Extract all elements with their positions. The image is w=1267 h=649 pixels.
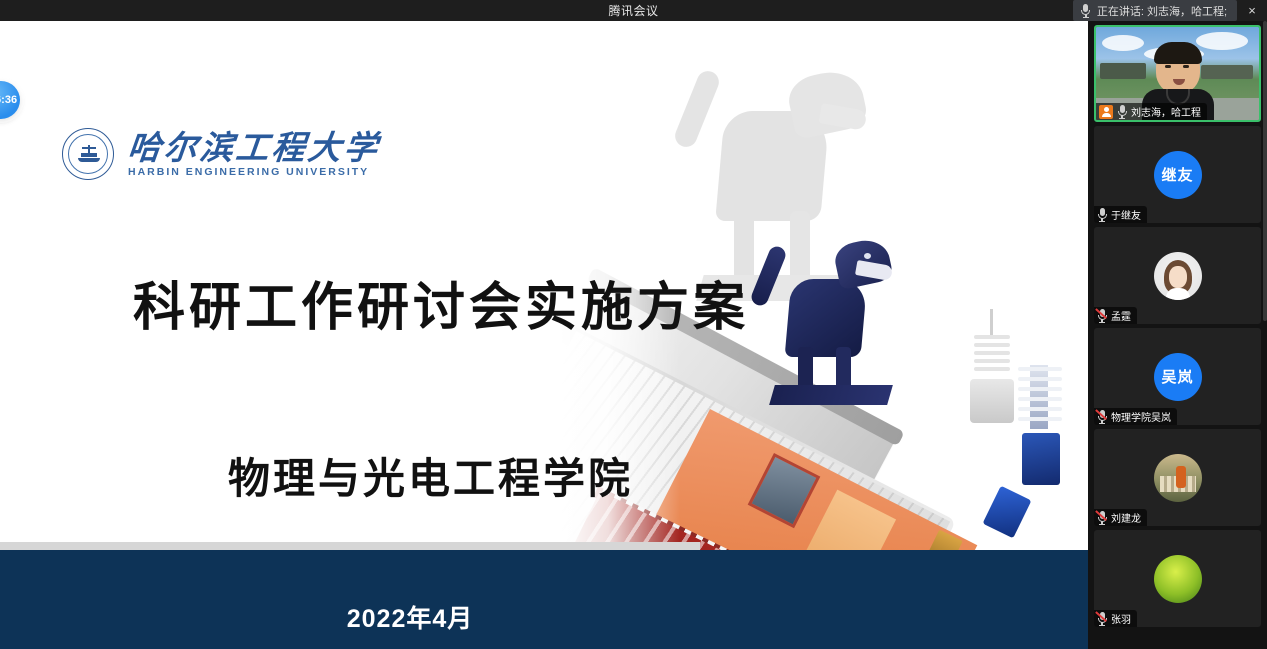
participant-name: 张羽: [1111, 611, 1131, 626]
avatar: 吴岚: [1154, 353, 1202, 401]
participants-scrollbar-thumb[interactable]: [1263, 21, 1267, 321]
host-badge-icon: [1099, 105, 1113, 119]
tencent-meeting-window: 腾讯会议 正在讲话: 刘志海，哈工程; ×: [0, 0, 1267, 649]
participant-name-bar: 物理学院吴岚: [1094, 408, 1177, 425]
speaking-indicator: 正在讲话: 刘志海，哈工程;: [1073, 0, 1237, 21]
participant-name: 刘志海，哈工程: [1131, 104, 1201, 119]
participant-name-bar: 刘志海，哈工程: [1096, 103, 1207, 120]
blue-finial-icon: [1012, 361, 1070, 491]
slide-title: 科研工作研讨会实施方案: [133, 265, 749, 340]
participant-tile-2[interactable]: 孟霆: [1094, 227, 1261, 324]
participant-tile-3[interactable]: 吴岚 物理学院吴岚: [1094, 328, 1261, 425]
microphone-muted-icon: [1097, 410, 1107, 424]
avatar: [1154, 252, 1202, 300]
university-name-en: HARBIN ENGINEERING UNIVERSITY: [128, 166, 380, 178]
participant-name: 孟霆: [1111, 308, 1131, 323]
slide-date: 2022年4月: [0, 599, 820, 635]
participant-name-bar: 于继友: [1094, 206, 1147, 223]
speaking-status-text: 正在讲话: 刘志海，哈工程;: [1097, 3, 1227, 19]
participant-name: 于继友: [1111, 207, 1141, 222]
slide-subtitle: 物理与光电工程学院: [228, 445, 633, 506]
microphone-muted-icon: [1097, 612, 1107, 626]
participant-name-bar: 张羽: [1094, 610, 1137, 627]
blue-bracket-decoration: [983, 486, 1032, 539]
slide-gray-band: [0, 542, 700, 550]
microphone-muted-icon: [1097, 309, 1107, 323]
university-seal-icon: [62, 128, 114, 180]
university-logo: 哈尔滨工程大学 HARBIN ENGINEERING UNIVERSITY: [62, 128, 380, 180]
participant-name: 刘建龙: [1111, 510, 1141, 525]
participant-name: 物理学院吴岚: [1111, 409, 1171, 424]
close-icon[interactable]: ×: [1237, 0, 1267, 21]
participant-tile-0[interactable]: 刘志海，哈工程: [1094, 25, 1261, 122]
guardian-statue-icon: [752, 219, 902, 399]
presentation-slide: 哈尔滨工程大学 HARBIN ENGINEERING UNIVERSITY 科研…: [0, 21, 1088, 649]
microphone-icon: [1081, 4, 1091, 18]
avatar: [1154, 555, 1202, 603]
avatar: 继友: [1154, 151, 1202, 199]
window-title: 腾讯会议: [608, 2, 658, 19]
participant-name-bar: 刘建龙: [1094, 509, 1147, 526]
participant-tile-1[interactable]: 继友 于继友: [1094, 126, 1261, 223]
participant-tile-5[interactable]: 张羽: [1094, 530, 1261, 627]
participants-panel[interactable]: 刘志海，哈工程 继友 于继友 孟霆: [1088, 21, 1267, 649]
university-name-cn: 哈尔滨工程大学: [126, 131, 381, 164]
microphone-icon: [1097, 208, 1107, 222]
microphone-muted-icon: [1097, 511, 1107, 525]
microphone-icon: [1117, 105, 1127, 119]
avatar: [1154, 454, 1202, 502]
participants-scrollbar[interactable]: [1263, 21, 1267, 649]
participant-tile-4[interactable]: 刘建龙: [1094, 429, 1261, 526]
title-bar: 腾讯会议 正在讲话: 刘志海，哈工程; ×: [0, 0, 1267, 21]
shared-screen-stage[interactable]: 哈尔滨工程大学 HARBIN ENGINEERING UNIVERSITY 科研…: [0, 21, 1088, 649]
university-wordmark: 哈尔滨工程大学 HARBIN ENGINEERING UNIVERSITY: [128, 131, 380, 178]
participant-name-bar: 孟霆: [1094, 307, 1137, 324]
meeting-timer-text: 06:36: [0, 94, 17, 106]
